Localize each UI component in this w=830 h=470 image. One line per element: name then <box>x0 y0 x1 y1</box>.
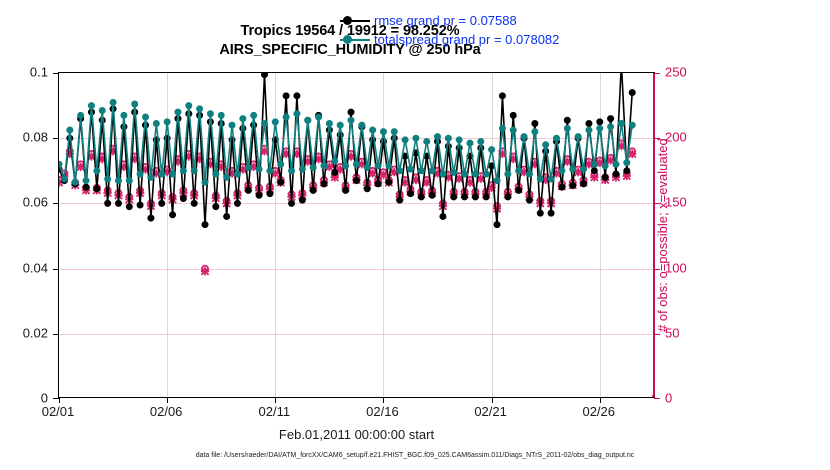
left-axis-tick-label: 0.06 <box>0 195 48 210</box>
right-axis-title: # of obs: o=possible; x=evaluated <box>655 138 670 332</box>
plot-area <box>58 72 655 398</box>
chart-legend: rmse grand pr = 0.07588 totalspread gran… <box>338 10 559 50</box>
left-axis-tick-label: 0.04 <box>0 260 48 275</box>
x-axis-tick-label: 02/06 <box>150 404 183 419</box>
series-clip-region <box>59 73 654 397</box>
tick-bottom <box>383 397 384 403</box>
data-file-note: data file: /Users/raeder/DAI/ATM_forcXX/… <box>0 452 830 459</box>
right-axis-tick-label: 250 <box>665 65 687 80</box>
tick-bottom <box>492 397 493 403</box>
tick-bottom <box>275 397 276 403</box>
legend-item-totalspread[interactable]: totalspread grand pr = 0.078082 <box>338 30 559 49</box>
right-axis-tick-label: 0 <box>665 391 672 406</box>
x-axis-tick-label: 02/01 <box>42 404 75 419</box>
series-canvas <box>59 73 654 397</box>
left-axis-tick-label: 0.08 <box>0 130 48 145</box>
legend-label-totalspread: totalspread grand pr = 0.078082 <box>374 32 559 47</box>
x-axis-title: Feb.01,2011 00:00:00 start <box>58 427 655 442</box>
tick-bottom <box>59 397 60 403</box>
x-axis-tick-label: 02/16 <box>366 404 399 419</box>
tick-bottom <box>600 397 601 403</box>
observation-diagnostics-figure: Tropics 19564 / 19912 = 98.252% AIRS_SPE… <box>0 0 830 470</box>
totalspread-line-marker-icon <box>338 33 372 47</box>
left-axis-tick-label: 0.1 <box>0 65 48 80</box>
left-axis-tick-label: 0.02 <box>0 325 48 340</box>
x-axis-tick-label: 02/11 <box>259 404 291 419</box>
legend-item-rmse[interactable]: rmse grand pr = 0.07588 <box>338 11 559 30</box>
tick-bottom <box>167 397 168 403</box>
x-axis-tick-label: 02/26 <box>582 404 615 419</box>
x-axis-tick-label: 02/21 <box>474 404 507 419</box>
legend-label-rmse: rmse grand pr = 0.07588 <box>374 13 517 28</box>
tick-right <box>654 398 660 399</box>
rmse-line-marker-icon <box>338 14 372 28</box>
